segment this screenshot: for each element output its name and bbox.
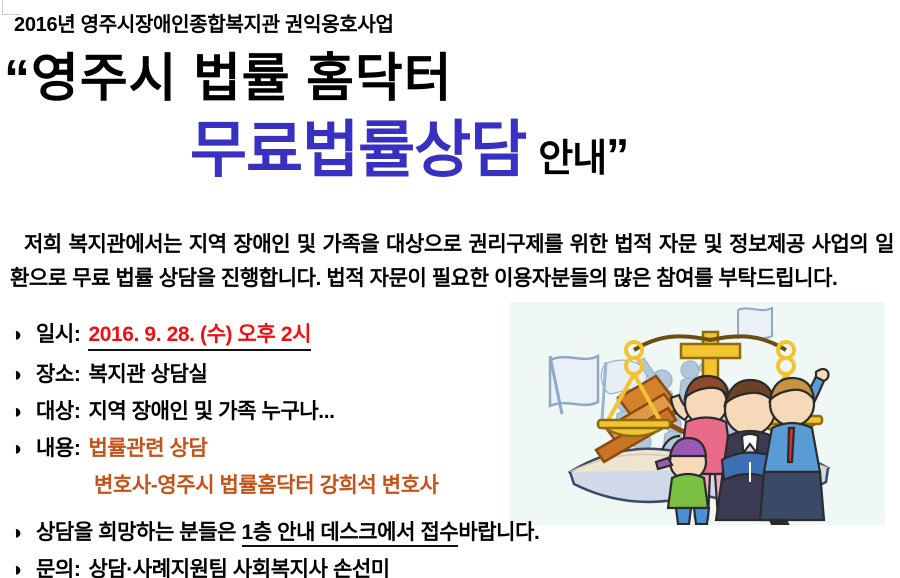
list-item-datetime: ◑ 일시: 2016. 9. 28. (수) 오후 2시 [10, 318, 630, 351]
list-item-value: 지역 장애인 및 가족 누구나... [88, 395, 334, 425]
bullet-half-circle-icon: ◑ [10, 402, 36, 422]
list-item-location: ◑ 장소: 복지관 상담실 [10, 358, 630, 388]
list-item-content-subline: 변호사-영주시 법률홈닥터 강희석 변호사 [94, 469, 630, 499]
list-item-label: 문의: [36, 553, 80, 578]
list-item-target: ◑ 대상: 지역 장애인 및 가족 누구나... [10, 395, 630, 425]
bullet-half-circle-icon: ◑ [10, 523, 36, 543]
title-close-quote: ” [606, 129, 629, 181]
poster-canvas: 2016년 영주시장애인종합복지관 권익옹호사업 “영주시 법률 홈닥터 무료법… [0, 0, 900, 578]
intro-paragraph: 저희 복지관에서는 지역 장애인 및 가족을 대상으로 권리구제를 위한 법적 … [10, 228, 894, 296]
list-item-label: 내용: [36, 432, 80, 462]
list-item-inquiry: ◑ 문의: 상담·사례지원팀 사회복지사 손선미 [10, 553, 630, 578]
list-item-value: 2016. 9. 28. (수) 오후 2시 [88, 318, 311, 351]
inquiry-staff-name: 손선미 [333, 558, 390, 578]
list-item-registration: ◑ 상담을 희망하는 분들은 1층 안내 데스크에서 접수바랍니다. [10, 516, 630, 546]
registration-text-underlined: 1층 안내 데스크에서 접수 [242, 521, 459, 547]
registration-text-pre: 상담을 희망하는 분들은 [36, 521, 242, 544]
list-item-label: 일시: [36, 318, 80, 348]
title-main-highlight: 무료법률상담 [190, 116, 526, 185]
inquiry-team: 상담·사례지원팀 사회복지사 [88, 558, 333, 578]
registration-text: 상담을 희망하는 분들은 1층 안내 데스크에서 접수바랍니다. [36, 516, 539, 546]
list-spacer [10, 506, 630, 516]
bullet-half-circle-icon: ◑ [10, 439, 36, 459]
bullet-half-circle-icon: ◑ [10, 365, 36, 385]
lawyer-name-text: 변호사-영주시 법률홈닥터 강희석 변호사 [94, 469, 439, 499]
list-item-label: 대상: [36, 395, 80, 425]
bullet-half-circle-icon: ◑ [10, 560, 36, 578]
bullet-half-circle-icon: ◑ [10, 325, 36, 345]
inquiry-text: 상담·사례지원팀 사회복지사 손선미 [88, 553, 389, 578]
list-item-content: ◑ 내용: 법률관련 상담 [10, 432, 630, 462]
small-flag-shape [738, 308, 772, 338]
list-item-label: 장소: [36, 358, 80, 388]
poster-title-line-1: “영주시 법률 홈닥터 [4, 52, 453, 107]
title-suffix: 안내 [526, 138, 606, 180]
list-item-value: 법률관련 상담 [88, 432, 207, 462]
list-item-value: 복지관 상담실 [88, 358, 207, 388]
poster-kicker: 2016년 영주시장애인종합복지관 권익옹호사업 [14, 8, 394, 37]
poster-title-line-2: 무료법률상담안내” [190, 120, 629, 182]
details-list: ◑ 일시: 2016. 9. 28. (수) 오후 2시 ◑ 장소: 복지관 상… [10, 318, 630, 578]
registration-text-post: 바랍니다. [458, 521, 539, 544]
